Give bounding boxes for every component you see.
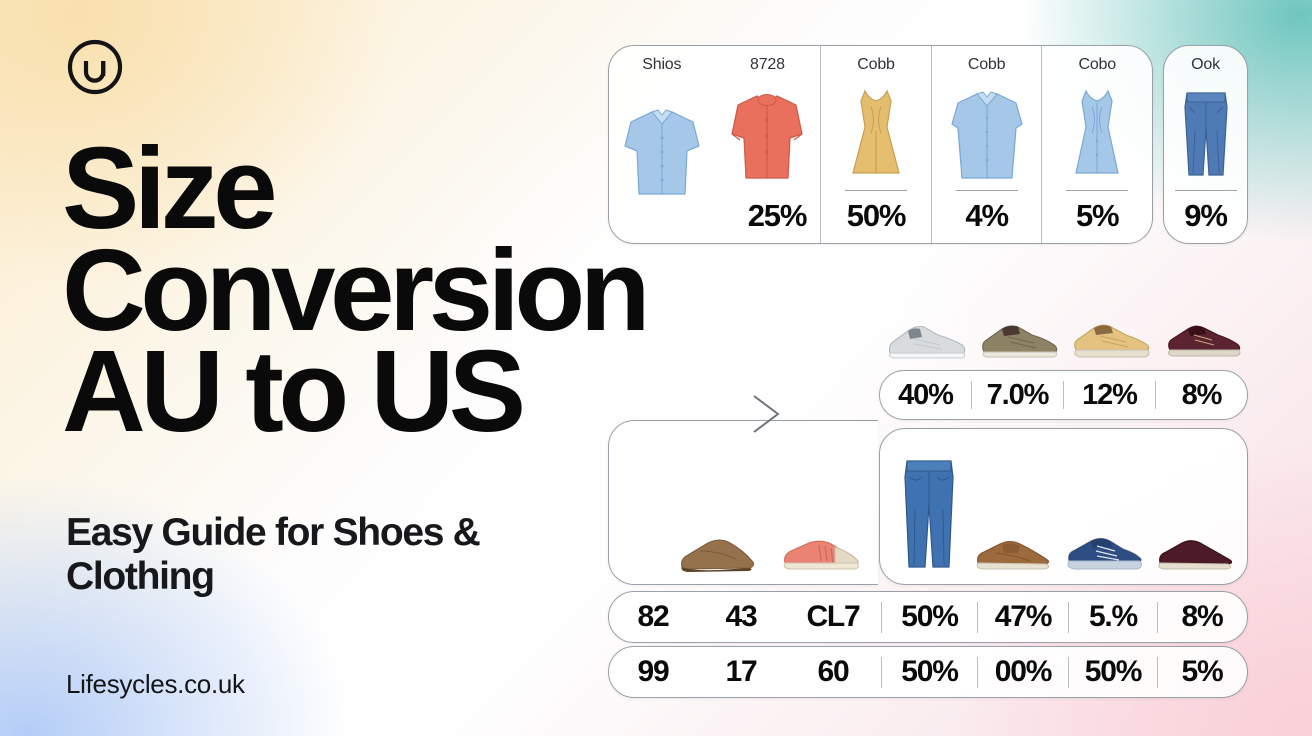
size-value-row-b: 99 17 60 50% 00% 50% 5% xyxy=(608,646,1248,698)
clothing-cell-header: Cobb xyxy=(857,56,894,78)
size-value: 00% xyxy=(978,647,1068,697)
size-value: 60 xyxy=(785,647,881,697)
maroon-sneaker-icon xyxy=(1156,319,1248,363)
clothing-cell-jeans-card[interactable]: Ook 9% xyxy=(1163,45,1248,244)
page-title: Size Conversion AU to US xyxy=(62,138,702,443)
blue-button-shirt-icon xyxy=(932,78,1042,190)
coral-slipon-shoe-icon xyxy=(779,531,863,580)
coral-blouse-icon xyxy=(715,78,821,190)
shoe-size-pill-row: 40% 7.0% 12% 8% xyxy=(879,370,1248,420)
clothing-cell-jeans[interactable]: Ook 9% xyxy=(1164,46,1247,243)
clothing-cell-header: Cobb xyxy=(968,56,1005,78)
size-value: 50% xyxy=(882,592,977,642)
clothing-cell-header: Shios xyxy=(642,56,681,78)
clothing-cell-rule xyxy=(845,190,907,191)
size-value: 43 xyxy=(697,592,785,642)
shoe-size-value: 8% xyxy=(1156,371,1247,419)
left-content-column: Size Conversion AU to US Easy Guide for … xyxy=(66,0,626,736)
size-value: 47% xyxy=(978,592,1068,642)
clothing-cell-blue-shirt[interactable]: Cobb 4% xyxy=(931,46,1042,243)
clothing-cell-yellow-dress[interactable]: Cobb 50% xyxy=(820,46,931,243)
blue-jeans-icon xyxy=(895,453,963,580)
size-value-row-a: 82 43 CL7 50% 47% 5.% 8% xyxy=(608,591,1248,643)
clothing-cell-blue-dress[interactable]: Cobo 5% xyxy=(1041,46,1152,243)
clothing-cell-rule xyxy=(1066,190,1128,191)
clothing-cell-value: 25% xyxy=(748,198,820,243)
white-sneaker-icon xyxy=(880,319,972,363)
size-value: 50% xyxy=(882,647,977,697)
clothing-cell-rule xyxy=(736,190,798,191)
clothing-comparison-card: Shios 8728 xyxy=(608,45,1153,244)
footer-website-url[interactable]: Lifesycles.co.uk xyxy=(66,669,245,700)
clothing-cell-value: 4% xyxy=(965,198,1007,243)
size-value: CL7 xyxy=(785,592,881,642)
olive-sneaker-icon xyxy=(972,319,1064,363)
womens-shoe-image-strip xyxy=(668,528,873,580)
navy-sneaker-icon xyxy=(1063,531,1145,580)
clothing-cell-header: Cobo xyxy=(1078,56,1115,78)
shoe-size-value: 12% xyxy=(1064,371,1155,419)
clothing-cell-rule xyxy=(1175,190,1237,191)
clothing-cell-blouse[interactable]: 8728 25% xyxy=(715,46,821,243)
clothing-cell-header: Ook xyxy=(1191,56,1220,78)
size-value: 8% xyxy=(1158,592,1246,642)
shoe-size-value: 40% xyxy=(880,371,971,419)
blue-dress-icon xyxy=(1042,78,1152,190)
clothing-cell-value: 50% xyxy=(847,198,905,243)
brown-flat-shoe-icon xyxy=(678,531,758,580)
chevron-right-arrow-icon xyxy=(748,390,788,438)
size-value: 5% xyxy=(1158,647,1246,697)
short-sleeve-shirt-icon xyxy=(609,78,715,226)
clothing-cell-header: 8728 xyxy=(750,56,785,78)
clothing-cell-shirt[interactable]: Shios xyxy=(609,46,715,243)
size-value: 5.% xyxy=(1069,592,1157,642)
yellow-dress-icon xyxy=(821,78,931,190)
infographic-poster: Size Conversion AU to US Easy Guide for … xyxy=(0,0,1312,736)
shoe-size-value: 7.0% xyxy=(972,371,1063,419)
blue-jeans-icon xyxy=(1164,78,1247,190)
size-value: 50% xyxy=(1069,647,1157,697)
clothing-cell-rule xyxy=(631,226,693,227)
sneaker-image-strip xyxy=(880,305,1248,363)
circle-u-monogram-icon xyxy=(66,38,124,96)
brand-logo[interactable] xyxy=(66,38,124,96)
size-value: 17 xyxy=(697,647,785,697)
clothing-cell-rule xyxy=(956,190,1018,191)
maroon-slipon-icon xyxy=(1154,533,1236,580)
brown-loafer-icon xyxy=(972,531,1054,580)
page-subtitle: Easy Guide for Shoes & Clothing xyxy=(66,511,626,599)
mens-outfit-image-strip xyxy=(890,452,1240,580)
size-value: 99 xyxy=(609,647,697,697)
size-value: 82 xyxy=(609,592,697,642)
clothing-cell-value: 9% xyxy=(1184,198,1226,243)
headline-line-3: AU to US xyxy=(62,341,702,443)
clothing-cell-value: 5% xyxy=(1076,198,1118,243)
tan-sneaker-icon xyxy=(1064,319,1156,363)
